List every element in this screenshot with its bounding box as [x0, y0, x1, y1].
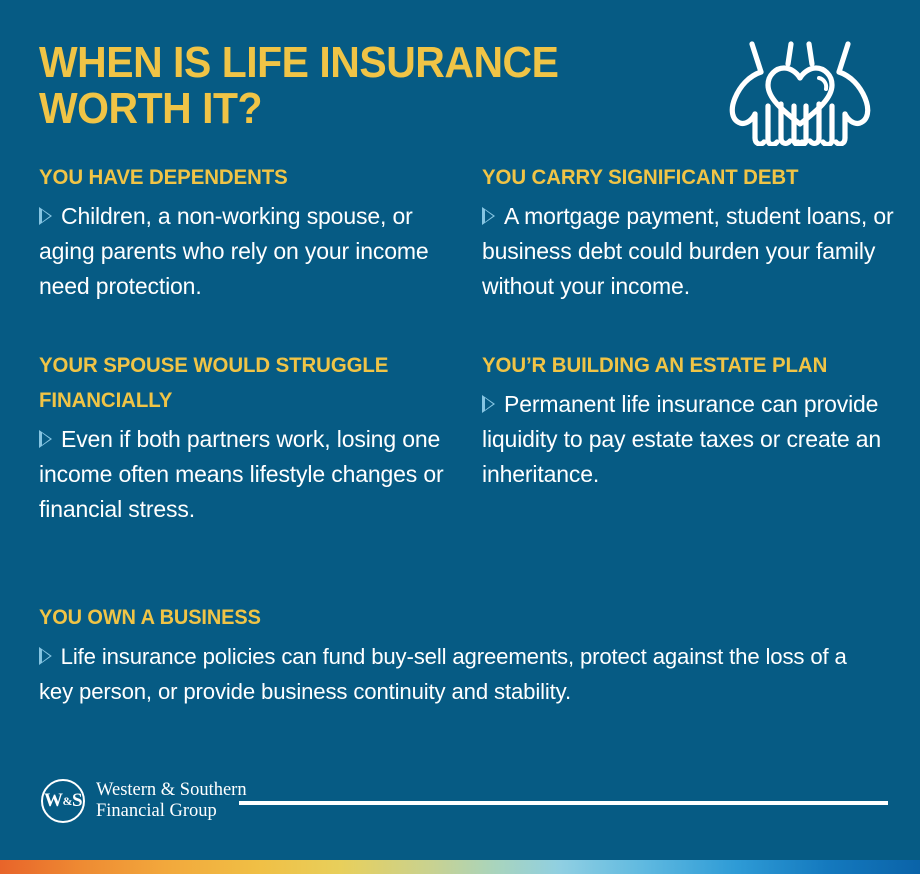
reason-body: Permanent life insurance can provide liq…: [482, 391, 881, 487]
logo-letter-w: W: [44, 790, 63, 812]
reason-body: Even if both partners work, losing one i…: [39, 426, 444, 522]
column-right: YOU CARRY SIGNIFICANT DEBT A mortgage pa…: [482, 160, 897, 518]
reason-heading: YOU HAVE DEPENDENTS: [39, 160, 429, 195]
header: WHEN IS LIFE INSURANCE WORTH IT?: [0, 0, 920, 160]
logo-letter-s: S: [72, 790, 82, 812]
brand-name: Western & Southern Financial Group: [96, 780, 247, 822]
footer: W&S Western & Southern Financial Group: [0, 773, 920, 845]
brand-logo: W&S Western & Southern Financial Group: [41, 779, 247, 823]
footer-divider: [239, 801, 888, 805]
triangle-bullet-icon: [39, 430, 52, 448]
reason-item-own-business: YOU OWN A BUSINESS Life insurance polici…: [39, 600, 859, 709]
page-title: WHEN IS LIFE INSURANCE WORTH IT?: [39, 40, 653, 132]
row-full-width: YOU OWN A BUSINESS Life insurance polici…: [39, 600, 859, 735]
triangle-bullet-icon: [39, 647, 52, 665]
reason-body: Life insurance policies can fund buy-sel…: [39, 644, 847, 704]
logo-ampersand: &: [62, 794, 72, 809]
hands-holding-heart-icon: [722, 28, 878, 146]
reason-heading: YOU OWN A BUSINESS: [39, 600, 818, 635]
reason-item-estate-plan: YOU’R BUILDING AN ESTATE PLAN Permanent …: [482, 348, 897, 492]
reason-body-wrapper: Permanent life insurance can provide liq…: [482, 387, 897, 492]
triangle-bullet-icon: [482, 207, 495, 225]
triangle-bullet-icon: [39, 207, 52, 225]
reason-body-wrapper: Children, a non-working spouse, or aging…: [39, 199, 449, 304]
reason-heading: YOUR SPOUSE WOULD STRUGGLE FINANCIALLY: [39, 348, 429, 418]
reason-body: A mortgage payment, student loans, or bu…: [482, 203, 894, 299]
reason-item-dependents: YOU HAVE DEPENDENTS Children, a non-work…: [39, 160, 449, 304]
reason-body-wrapper: Life insurance policies can fund buy-sel…: [39, 639, 847, 709]
reason-body-wrapper: Even if both partners work, losing one i…: [39, 422, 449, 527]
infographic-canvas: WHEN IS LIFE INSURANCE WORTH IT?: [0, 0, 920, 874]
reason-body: Children, a non-working spouse, or aging…: [39, 203, 429, 299]
reason-item-significant-debt: YOU CARRY SIGNIFICANT DEBT A mortgage pa…: [482, 160, 897, 304]
reason-item-spouse-struggle: YOUR SPOUSE WOULD STRUGGLE FINANCIALLY E…: [39, 348, 449, 527]
gradient-accent-bar: [0, 860, 920, 874]
reason-heading: YOU CARRY SIGNIFICANT DEBT: [482, 160, 876, 195]
triangle-bullet-icon: [482, 395, 495, 413]
reason-heading: YOU’R BUILDING AN ESTATE PLAN: [482, 348, 876, 383]
column-left: YOU HAVE DEPENDENTS Children, a non-work…: [39, 160, 449, 553]
reason-body-wrapper: A mortgage payment, student loans, or bu…: [482, 199, 897, 304]
ws-monogram-icon: W&S: [41, 779, 85, 823]
